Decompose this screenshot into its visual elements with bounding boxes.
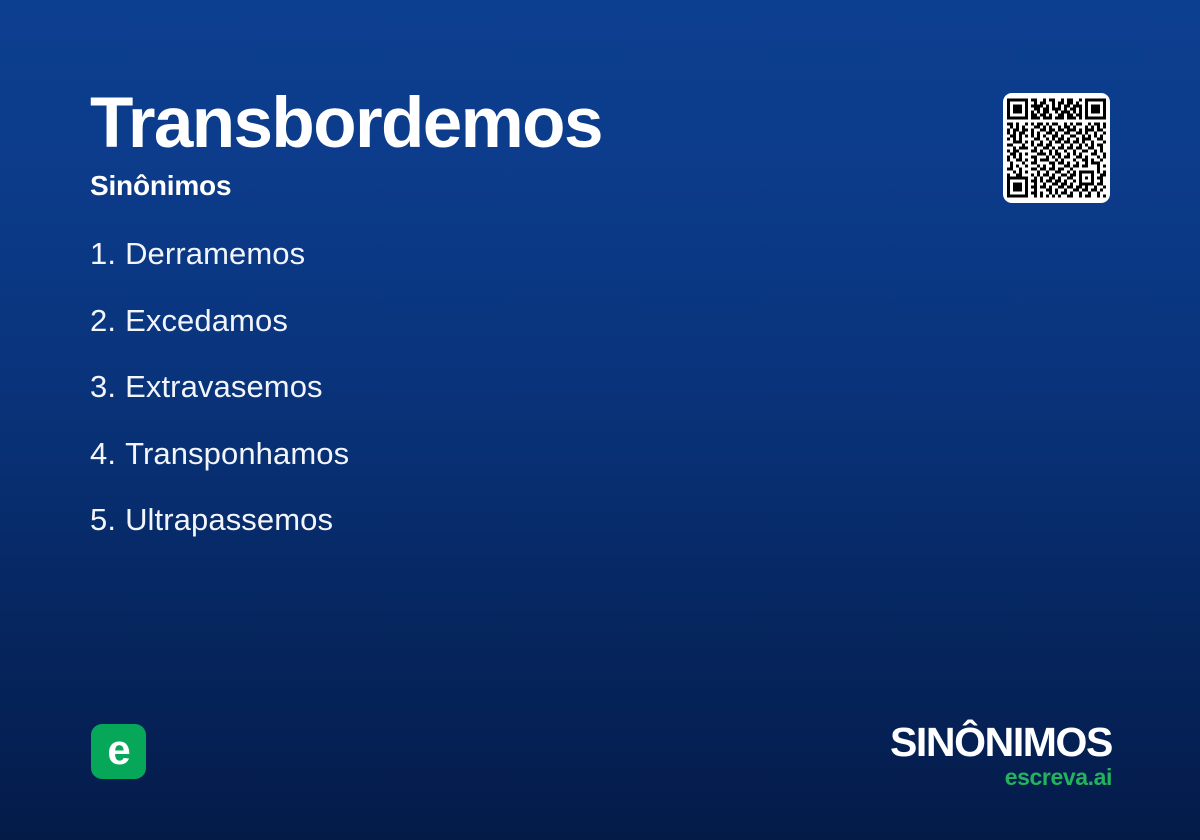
page-subtitle: Sinônimos: [90, 171, 950, 202]
list-item: 2. Excedamos: [90, 303, 910, 370]
list-item-label: Extravasemos: [125, 369, 323, 405]
list-item-label: Ultrapassemos: [125, 502, 333, 538]
synonym-list: 1. Derramemos 2. Excedamos 3. Extravasem…: [90, 236, 910, 569]
escreva-badge-icon[interactable]: e: [91, 724, 146, 779]
brand-lockup: SINÔNIMOS escreva.ai: [852, 722, 1112, 789]
escreva-badge-letter: e: [107, 729, 129, 771]
list-item-index: 3.: [90, 369, 116, 405]
list-item-label: Derramemos: [125, 236, 305, 272]
page-title: Transbordemos: [90, 86, 950, 161]
list-item-index: 2.: [90, 303, 116, 339]
list-item: 4. Transponhamos: [90, 436, 910, 503]
list-item: 3. Extravasemos: [90, 369, 910, 436]
list-item-label: Transponhamos: [125, 436, 349, 472]
list-item-label: Excedamos: [125, 303, 288, 339]
list-item-index: 5.: [90, 502, 116, 538]
list-item: 1. Derramemos: [90, 236, 910, 303]
qr-code-icon[interactable]: [1003, 93, 1110, 203]
brand-name: SINÔNIMOS: [852, 722, 1112, 763]
brand-tagline: escreva.ai: [852, 766, 1112, 789]
header: Transbordemos Sinônimos: [90, 86, 950, 202]
list-item-index: 1.: [90, 236, 116, 272]
list-item: 5. Ultrapassemos: [90, 502, 910, 569]
synonym-card: Transbordemos Sinônimos 1. Derramemos 2.…: [0, 0, 1200, 840]
list-item-index: 4.: [90, 436, 116, 472]
